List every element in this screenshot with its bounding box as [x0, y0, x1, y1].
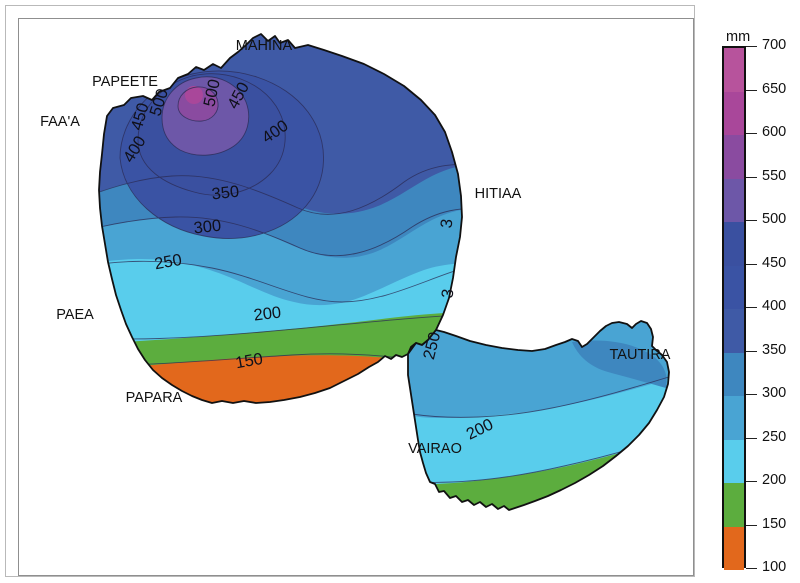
colorbar-band-300-350 — [724, 353, 744, 397]
colorbar-tick-label: 500 — [762, 211, 786, 227]
colorbar-band-350-400 — [724, 309, 744, 353]
colorbar-tick — [746, 90, 757, 91]
colorbar-tick — [746, 568, 757, 569]
isohyet-label: 3 — [439, 288, 458, 299]
tahiti-map: MAHINA PAPEETE FAA'A HITIAA PAEA PAPARA … — [12, 12, 688, 570]
map-page: Fond de Carte © IGN — [0, 0, 800, 583]
colorbar-unit-label: mm — [726, 29, 750, 45]
colorbar-tick — [746, 264, 757, 265]
colorbar-tick — [746, 438, 757, 439]
colorbar-band-450-500 — [724, 222, 744, 266]
colorbar-tick — [746, 177, 757, 178]
colorbar-tick-label: 200 — [762, 472, 786, 488]
town-label: TAUTIRA — [610, 347, 671, 363]
colorbar-band-100-150 — [724, 527, 744, 571]
town-label: VAIRAO — [408, 441, 462, 457]
colorbar-tick — [746, 46, 757, 47]
town-label: PAEA — [56, 307, 94, 323]
colorbar-tick-label: 150 — [762, 516, 786, 532]
colorbar-tick-label: 300 — [762, 385, 786, 401]
town-label: PAPARA — [126, 390, 183, 406]
colorbar-tick-label: 650 — [762, 81, 786, 97]
isohyet-label: 300 — [193, 217, 222, 238]
colorbar-band-600-650 — [724, 92, 744, 136]
town-label: FAA'A — [40, 114, 80, 130]
colorbar-tick-label: 350 — [762, 342, 786, 358]
isohyet-label: 200 — [253, 303, 283, 324]
colorbar-tick — [746, 481, 757, 482]
colorbar-band-650-700 — [724, 48, 744, 92]
town-label: HITIAA — [475, 186, 522, 202]
colorbar-band-500-550 — [724, 179, 744, 223]
colorbar-gradient — [722, 46, 746, 568]
town-label: MAHINA — [236, 38, 293, 54]
colorbar-band-250-300 — [724, 396, 744, 440]
colorbar-band-150-200 — [724, 483, 744, 527]
colorbar-tick — [746, 351, 757, 352]
colorbar-band-200-250 — [724, 440, 744, 484]
isohyet-label: 3 — [438, 218, 457, 229]
main-island-bands — [12, 12, 688, 570]
colorbar-tick-label: 600 — [762, 124, 786, 140]
colorbar-tick — [746, 394, 757, 395]
colorbar-tick-label: 400 — [762, 298, 786, 314]
town-label: PAPEETE — [92, 74, 158, 90]
colorbar-tick-label: 700 — [762, 37, 786, 53]
colorbar-tick — [746, 220, 757, 221]
colorbar-tick-label: 450 — [762, 255, 786, 271]
colorbar-tick — [746, 307, 757, 308]
colorbar-tick-label: 550 — [762, 168, 786, 184]
colorbar-tick-label: 100 — [762, 559, 786, 575]
isohyet-label: 350 — [211, 183, 240, 204]
colorbar-band-400-450 — [724, 266, 744, 310]
colorbar-tick-label: 250 — [762, 429, 786, 445]
colorbar-band-550-600 — [724, 135, 744, 179]
colorbar-tick — [746, 525, 757, 526]
colorbar-tick — [746, 133, 757, 134]
